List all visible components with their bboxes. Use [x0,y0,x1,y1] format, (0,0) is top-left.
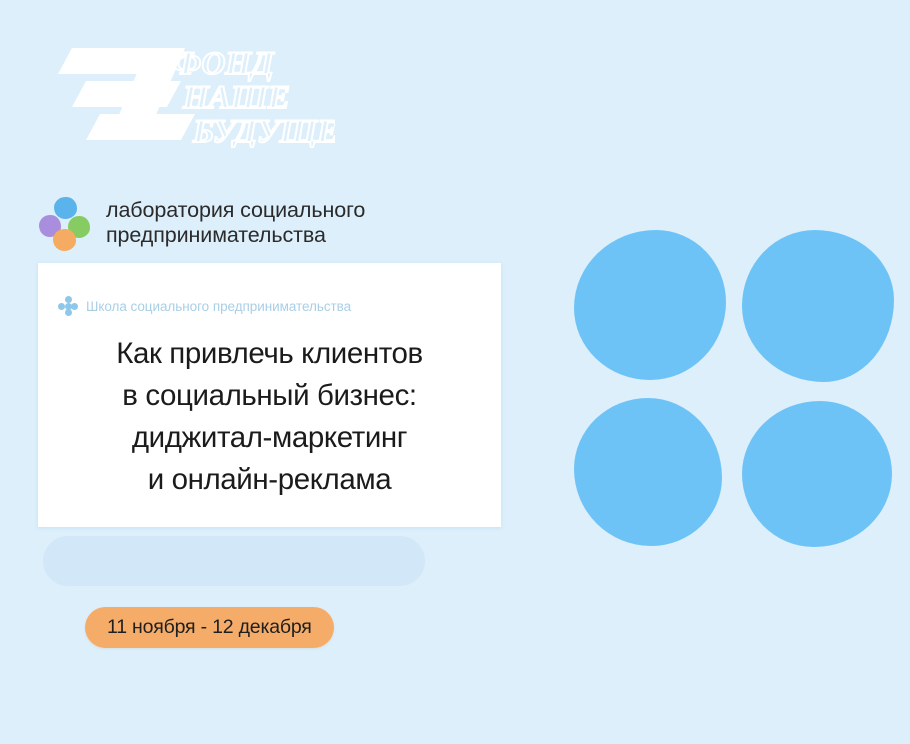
fund-logo: ФОНД НАШЕ БУДУЩЕЕ [55,38,335,148]
fund-logo-graphic: ФОНД НАШЕ БУДУЩЕЕ [55,38,335,148]
cluster-dot-center-icon [65,303,72,310]
ghost-pill-decoration [43,536,425,586]
lab-logo: лаборатория социального предпринимательс… [38,196,365,250]
cluster-dot-left-icon [58,303,65,310]
blob-bottom-left-icon [574,398,722,546]
status-badge-dates: 11 ноября - 12 декабря [85,607,334,648]
cluster-dot-top-icon [65,296,72,303]
fund-logo-line3: БУДУЩЕЕ [192,114,335,148]
dot-blue-icon [54,197,77,219]
card-brand: Школа социального предпринимательства [58,296,351,316]
cluster-dot-bottom-icon [65,309,72,316]
fund-logo-line2: НАШЕ [182,80,290,116]
blob-cluster-decoration [570,225,910,550]
four-color-dots-logo-icon [38,196,92,250]
card-brand-label: Школа социального предпринимательства [86,299,351,314]
dot-orange-icon [53,229,76,251]
blue-dots-cluster-icon [58,296,78,316]
cluster-dot-right-icon [71,303,78,310]
poster-canvas: ФОНД НАШЕ БУДУЩЕЕ лаборатория социальног… [0,0,910,744]
fund-logo-line1: ФОНД [173,46,275,82]
blob-bottom-right-icon [742,401,892,547]
page-title: Как привлечь клиентов в социальный бизне… [38,333,501,501]
lab-logo-title: лаборатория социального предпринимательс… [106,198,365,248]
event-card: Школа социального предпринимательства Ка… [38,263,501,527]
blob-top-left-icon [574,230,726,380]
blob-top-right-icon [742,230,894,382]
